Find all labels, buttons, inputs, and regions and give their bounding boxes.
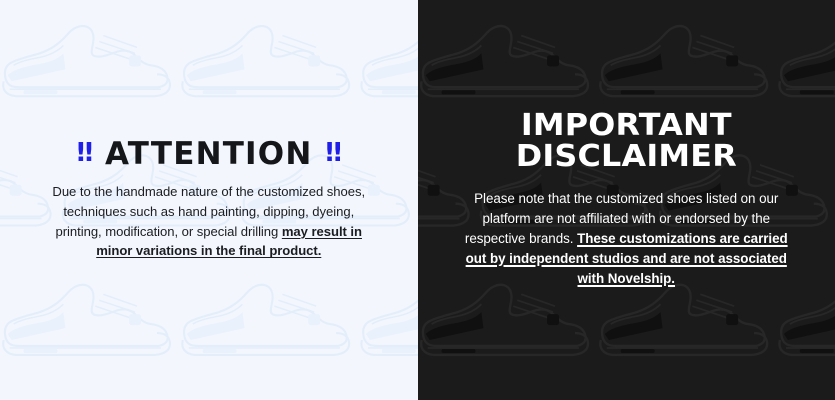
disclaimer-body: Please note that the customized shoes li…	[456, 189, 796, 290]
disclaimer-heading-line1: IMPORTANT	[516, 111, 737, 142]
double-exclamation-left-icon: ‼	[77, 140, 92, 166]
disclaimer-banner: ‼ ATTENTION ‼ Due to the handmade nature…	[0, 0, 835, 400]
disclaimer-panel: IMPORTANT DISCLAIMER Please note that th…	[418, 0, 835, 400]
attention-heading-text: ATTENTION	[105, 139, 313, 170]
disclaimer-content: IMPORTANT DISCLAIMER Please note that th…	[418, 0, 835, 400]
disclaimer-heading: IMPORTANT DISCLAIMER	[516, 111, 737, 173]
attention-panel: ‼ ATTENTION ‼ Due to the handmade nature…	[0, 0, 418, 400]
attention-heading: ‼ ATTENTION ‼	[77, 139, 341, 170]
double-exclamation-right-icon: ‼	[326, 140, 341, 166]
attention-content: ‼ ATTENTION ‼ Due to the handmade nature…	[0, 0, 418, 400]
attention-body: Due to the handmade nature of the custom…	[44, 182, 374, 262]
disclaimer-heading-line2: DISCLAIMER	[516, 142, 737, 173]
